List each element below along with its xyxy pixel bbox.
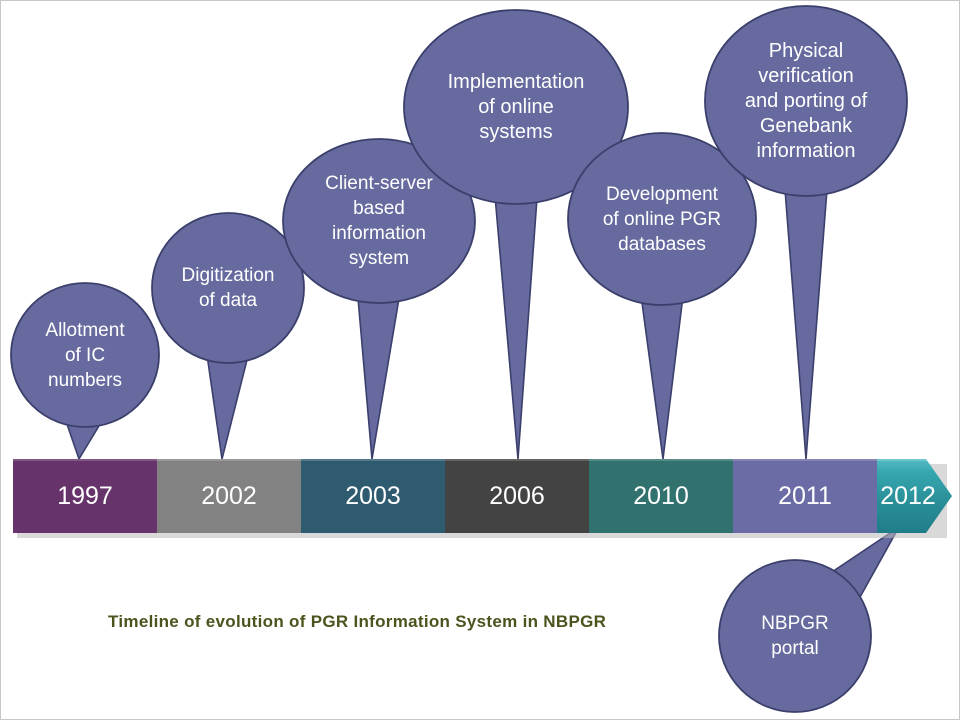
timeline-segment-2011[interactable] bbox=[733, 459, 877, 533]
timeline-bar-highlight bbox=[13, 459, 952, 461]
timeline-diagram: Allotment of IC numbersDigitization of d… bbox=[0, 0, 960, 720]
diagram-caption: Timeline of evolution of PGR Information… bbox=[108, 612, 606, 632]
timeline-segment-2002[interactable] bbox=[157, 459, 301, 533]
timeline-segment-2010[interactable] bbox=[589, 459, 733, 533]
timeline-segment-2006[interactable] bbox=[445, 459, 589, 533]
timeline-segment-1997[interactable] bbox=[13, 459, 157, 533]
timeline-segment-2003[interactable] bbox=[301, 459, 445, 533]
